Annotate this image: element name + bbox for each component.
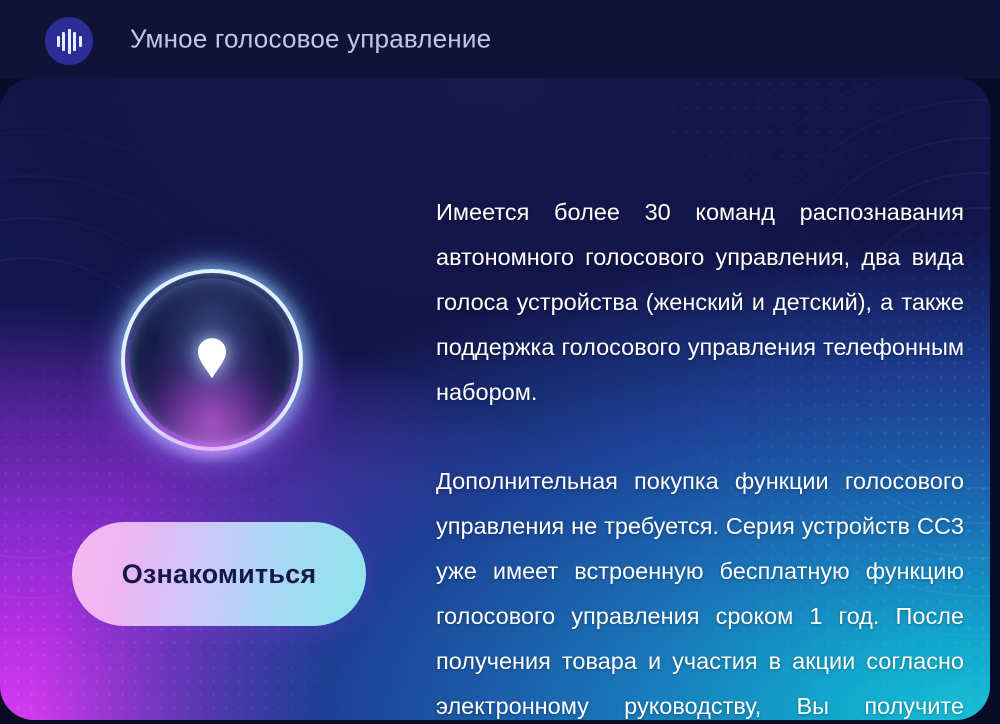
page-header: Умное голосовое управление xyxy=(0,0,1000,78)
paragraph-2: Дополнительная покупка функции голосовог… xyxy=(436,459,964,720)
voice-waveform-icon xyxy=(45,17,93,65)
waveform-bar xyxy=(57,36,60,47)
voice-control-screen: Умное голосовое управление xyxy=(0,0,1000,724)
voice-assistant-orb xyxy=(82,230,342,490)
page-title: Умное голосовое управление xyxy=(130,24,491,55)
paragraph-1: Имеется более 30 команд распознавания ав… xyxy=(436,190,964,415)
learn-more-button[interactable]: Ознакомиться xyxy=(72,522,366,626)
description-panel: Имеется более 30 команд распознавания ав… xyxy=(436,190,964,720)
content-card: Ознакомиться Имеется более 30 команд рас… xyxy=(0,78,990,720)
waveform-bar xyxy=(79,36,82,47)
location-pin-icon xyxy=(195,336,229,380)
waveform-bar xyxy=(68,29,71,54)
waveform-bar xyxy=(62,32,65,51)
waveform-bar xyxy=(73,32,76,51)
